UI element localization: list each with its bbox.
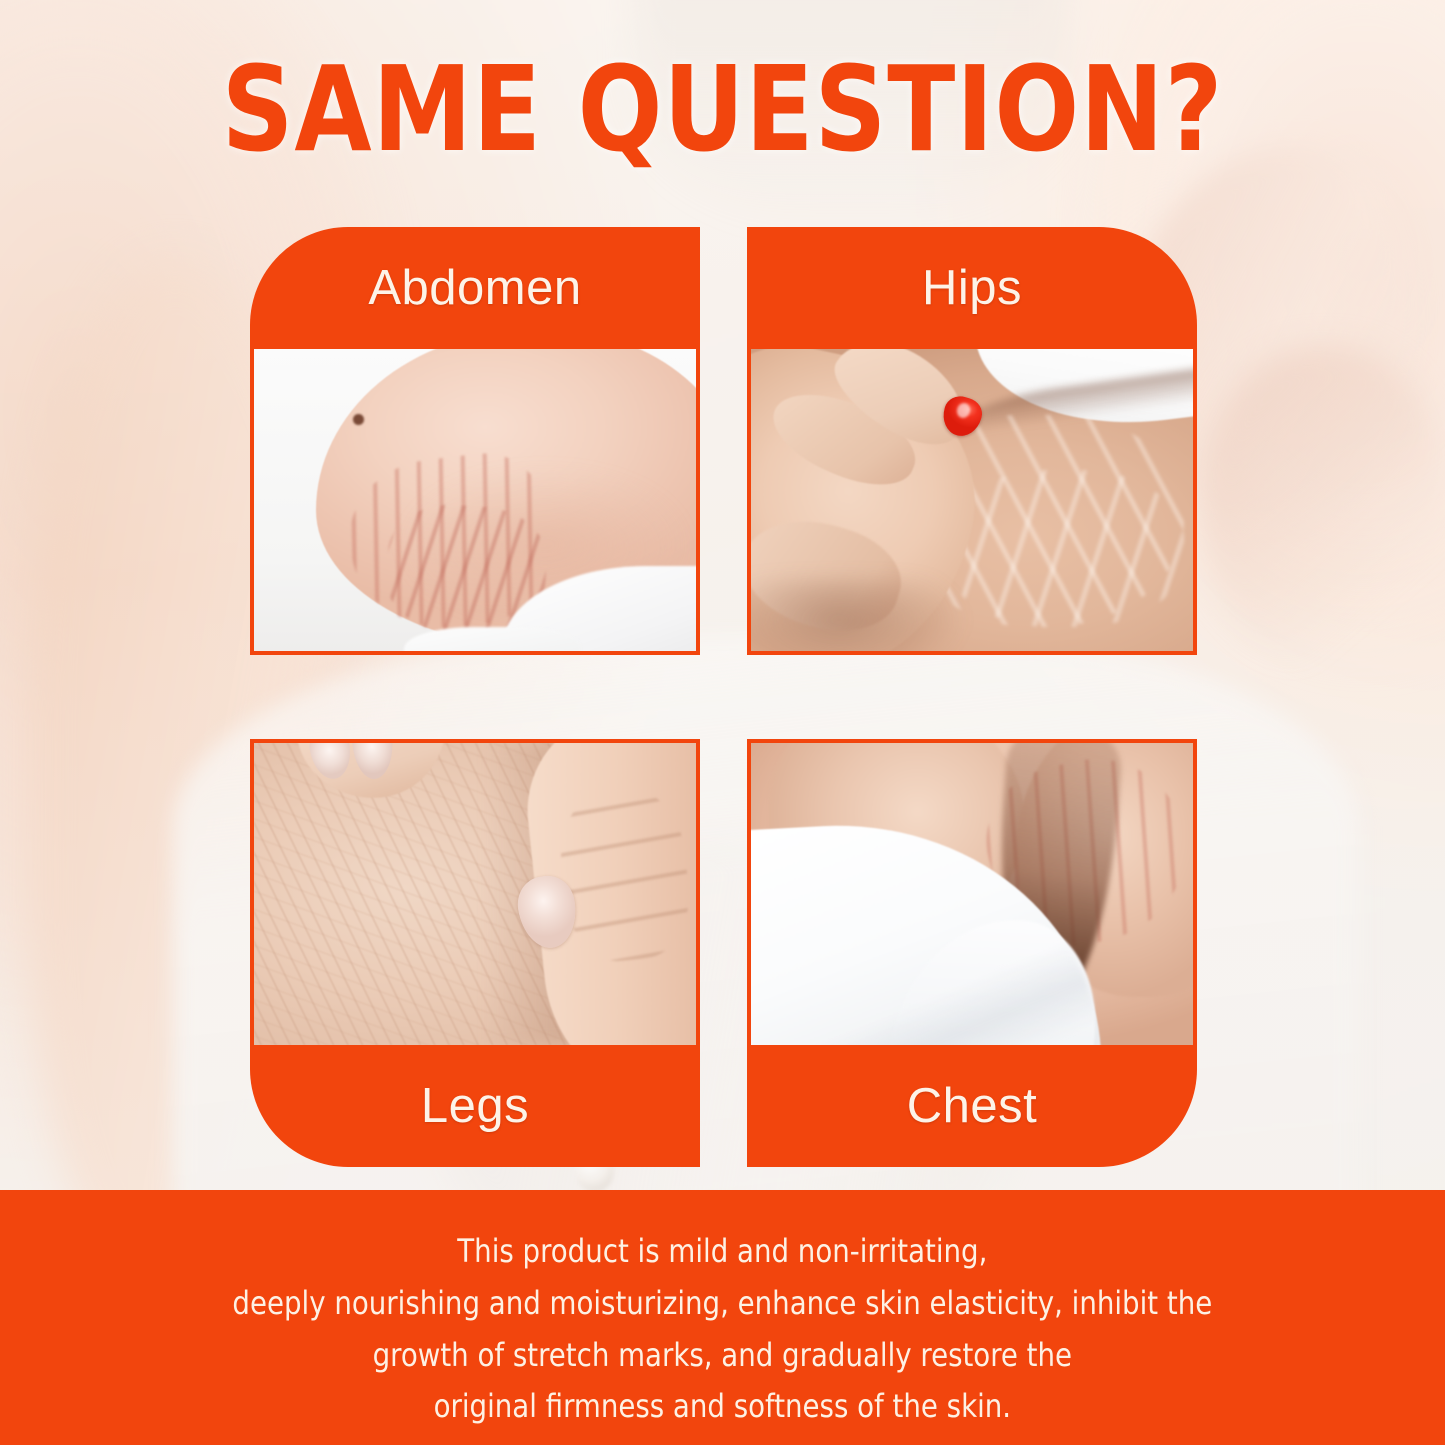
abdomen-navel [353,414,364,425]
hips-shading [751,579,963,651]
poster-root: SAME QUESTION? Abdomen Hips [0,0,1445,1445]
body-area-grid: Abdomen Hips [250,227,1197,1167]
footer-line-1: This product is mild and non-irritating, [233,1226,1213,1278]
footer-line-3: growth of stretch marks, and gradually r… [233,1330,1213,1382]
card-hips-photo [751,349,1193,651]
footer-banner: This product is mild and non-irritating,… [0,1190,1445,1445]
card-abdomen[interactable]: Abdomen [250,227,700,655]
card-abdomen-photo [254,349,696,651]
card-hips[interactable]: Hips [747,227,1197,655]
card-legs[interactable]: Legs [250,739,700,1167]
card-legs-photo [254,743,696,1045]
card-chest[interactable]: Chest [747,739,1197,1167]
card-chest-photo [751,743,1193,1045]
page-title: SAME QUESTION? [43,48,1401,171]
card-hips-label: Hips [747,227,1197,349]
footer-line-4: original firmness and softness of the sk… [233,1381,1213,1433]
card-abdomen-label: Abdomen [250,227,700,349]
footer-description: This product is mild and non-irritating,… [233,1226,1213,1433]
hips-stretch-marks-lower [945,470,1184,627]
footer-line-2: deeply nourishing and moisturizing, enha… [233,1278,1213,1330]
card-legs-label: Legs [250,1045,700,1167]
card-chest-label: Chest [747,1045,1197,1167]
